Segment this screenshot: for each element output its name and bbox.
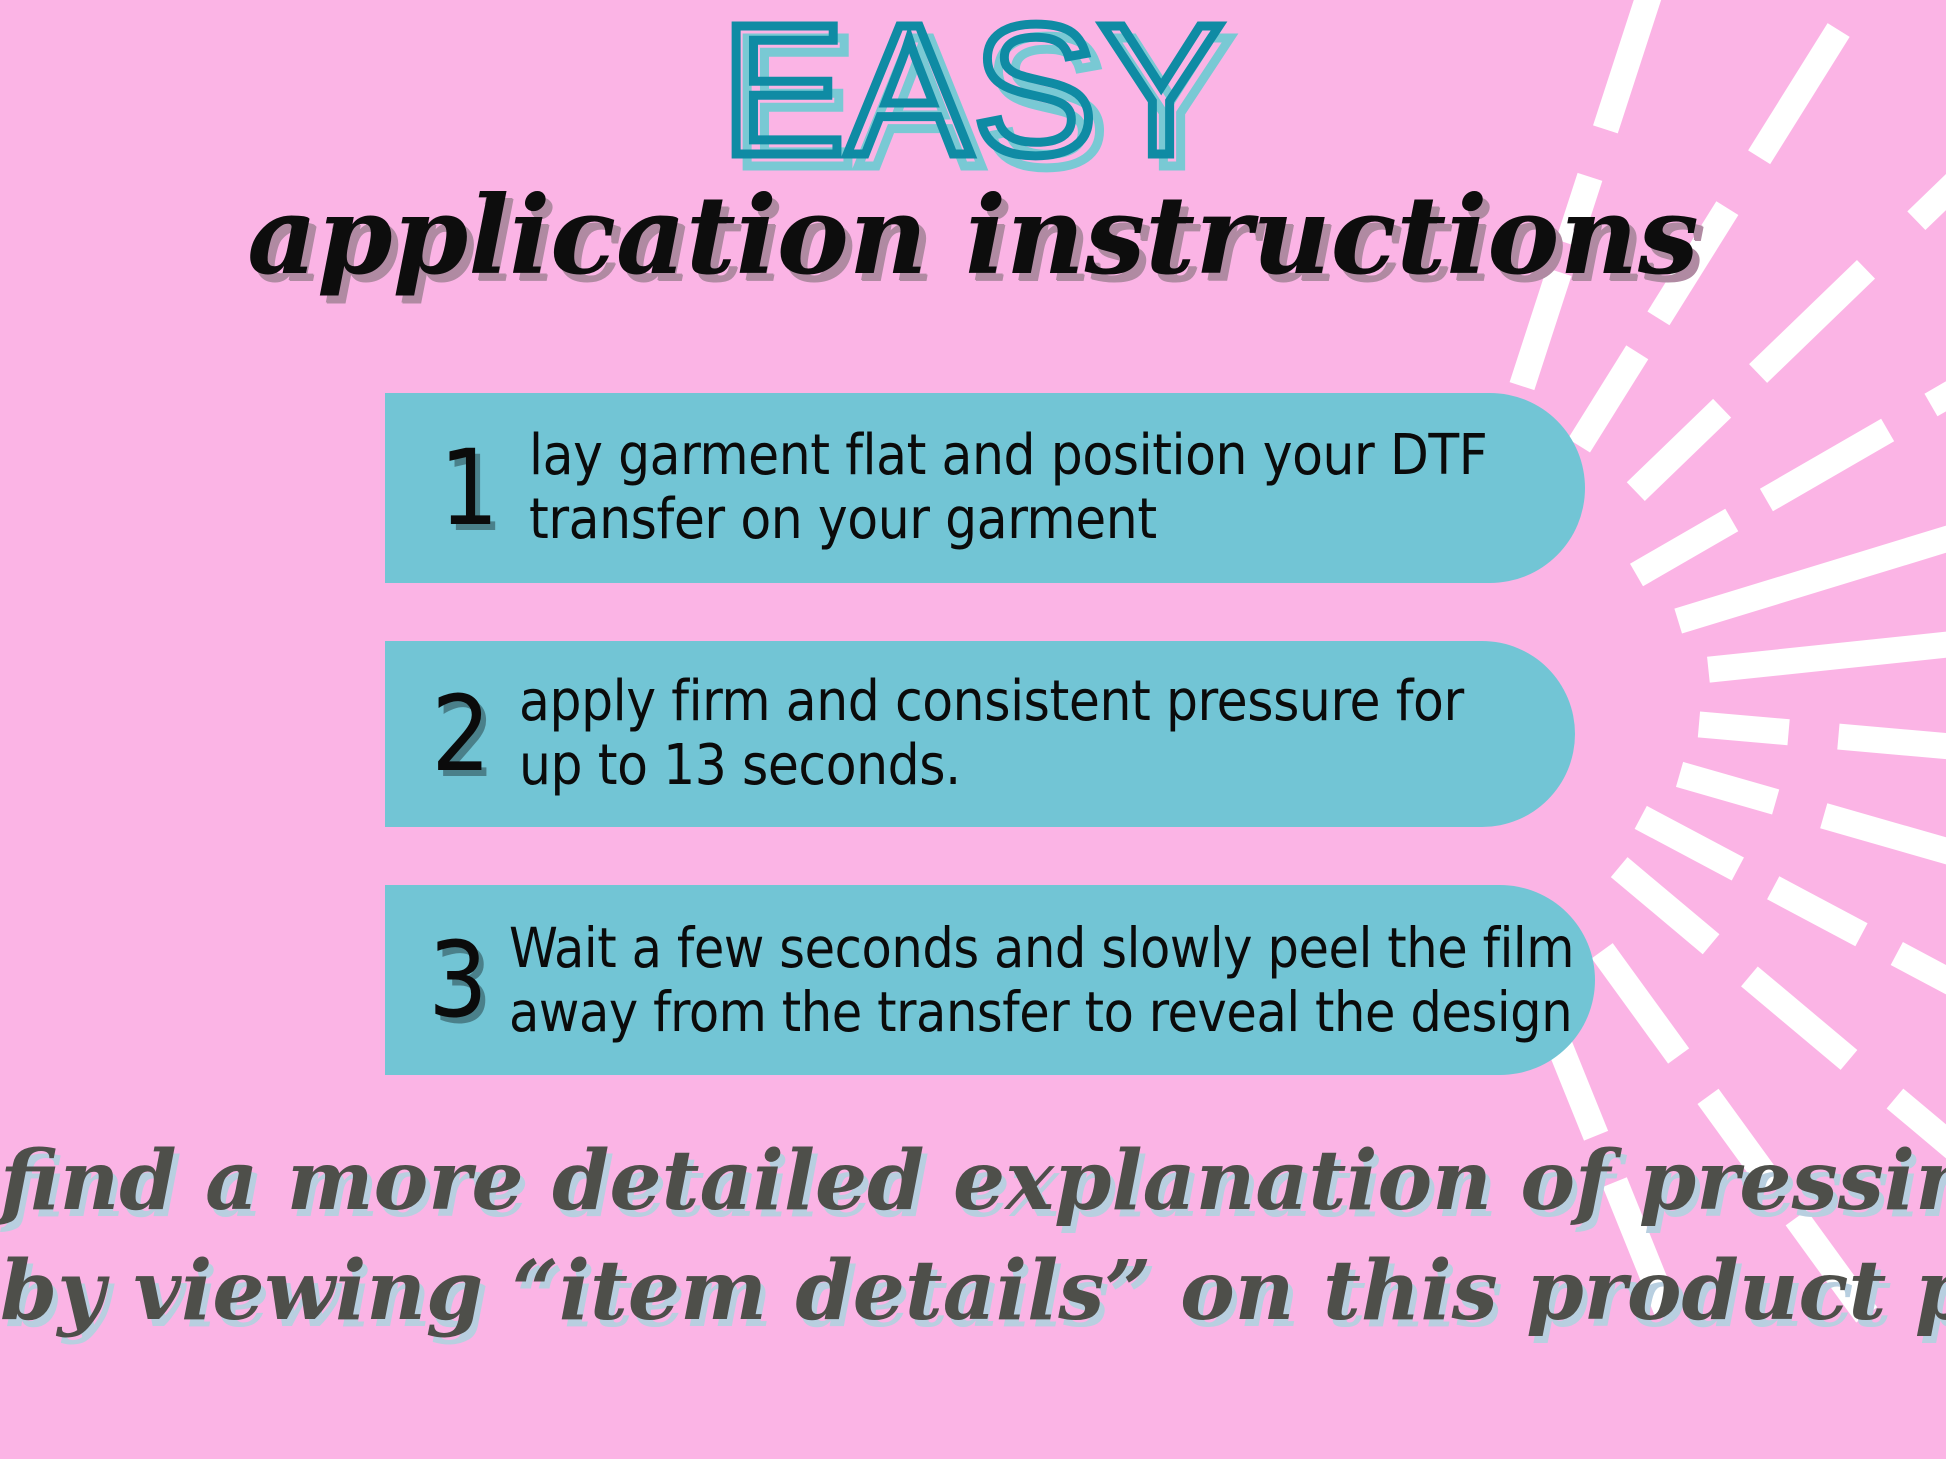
page-subtitle-wrap: application instructions: [0, 172, 1946, 302]
step-item-1: 1 lay garment flat and position your DTF…: [385, 393, 1585, 583]
sunburst-dash: [1627, 399, 1731, 501]
sunburst-dash: [1676, 762, 1779, 815]
footer-note-line-2: by viewing “item details” on this produc…: [0, 1236, 1946, 1346]
step-number-1: 1: [421, 436, 517, 540]
sunburst-dash: [1592, 943, 1689, 1063]
step-number-3: 3: [415, 928, 501, 1032]
step-item-2: 2 apply firm and consistent pressure for…: [385, 641, 1575, 827]
step-text-2: apply firm and consistent pressure for u…: [519, 670, 1575, 798]
footer-note: find a more detailed explanation of pres…: [0, 1126, 1946, 1346]
sunburst-dash: [1741, 966, 1857, 1069]
step-item-3: 3 Wait a few seconds and slowly peel the…: [385, 885, 1595, 1075]
sunburst-dash: [1630, 509, 1738, 587]
footer-note-line-1: find a more detailed explanation of pres…: [0, 1126, 1946, 1236]
sunburst-dash: [1698, 711, 1790, 745]
sunburst-dash: [1674, 512, 1946, 633]
sunburst-dash: [1707, 631, 1946, 683]
sunburst-dash: [1891, 942, 1946, 1026]
sunburst-dash: [1611, 857, 1720, 954]
application-instructions-poster: EASY EASY application instructions 1 lay…: [0, 0, 1946, 1459]
page-subtitle: application instructions: [247, 172, 1699, 300]
page-title-main-layer: EASY: [0, 6, 1946, 176]
step-number-2: 2: [413, 682, 509, 786]
step-text-3: Wait a few seconds and slowly peel the f…: [509, 916, 1595, 1044]
sunburst-dash: [1837, 724, 1946, 760]
sunburst-dash: [1635, 806, 1744, 881]
sunburst-dash: [1924, 314, 1946, 417]
sunburst-dash: [1760, 419, 1894, 512]
sunburst-dash: [1767, 876, 1868, 946]
sunburst-dash: [1820, 803, 1946, 911]
page-title: EASY EASY: [0, 6, 1946, 176]
step-text-1: lay garment flat and position your DTF t…: [529, 424, 1585, 552]
